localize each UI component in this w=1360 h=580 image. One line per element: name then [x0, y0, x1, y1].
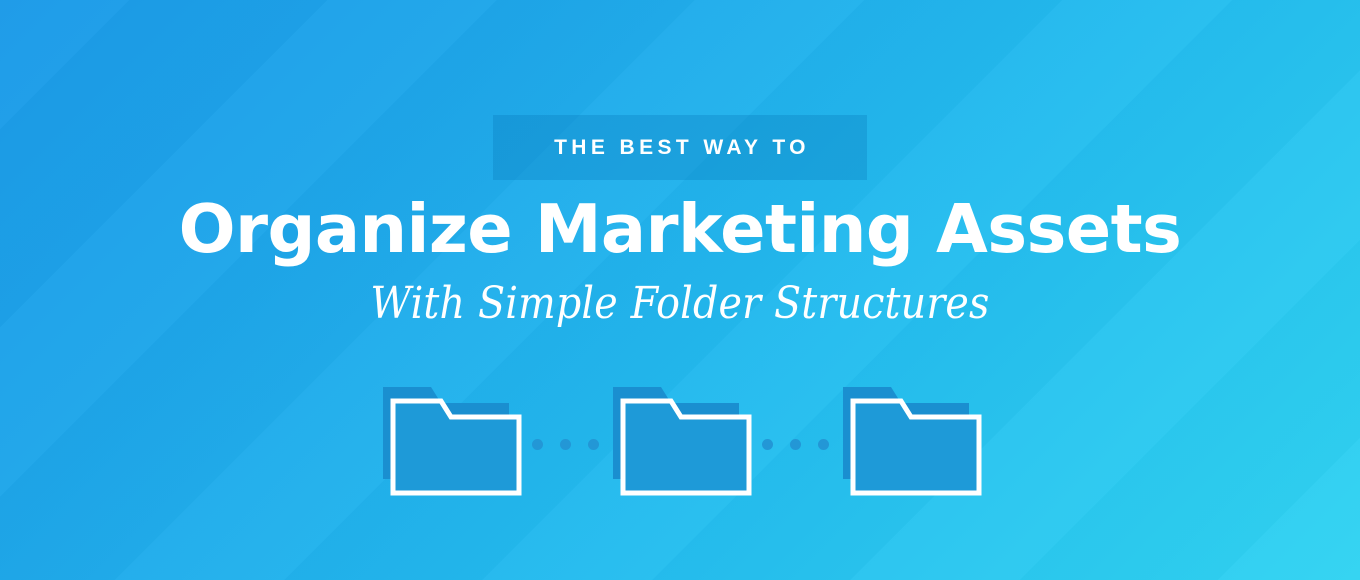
eyebrow-badge: The Best Way To [493, 115, 867, 180]
dot-icon [532, 439, 543, 450]
folder-icon [379, 383, 521, 501]
folder-icon [609, 383, 751, 501]
page-title: Organize Marketing Assets [179, 195, 1182, 265]
dot-icon [588, 439, 599, 450]
eyebrow-text: The Best Way To [550, 136, 810, 160]
dot-icon [818, 439, 829, 450]
dot-icon [762, 439, 773, 450]
dot-icon [790, 439, 801, 450]
folder-illustration [379, 383, 981, 501]
hero-banner: The Best Way To Organize Marketing Asset… [0, 0, 1360, 580]
folder-separator-dots [751, 439, 839, 450]
dot-icon [560, 439, 571, 450]
page-subtitle: With Simple Folder Structures [370, 278, 989, 329]
folder-icon [839, 383, 981, 501]
folder-separator-dots [521, 439, 609, 450]
